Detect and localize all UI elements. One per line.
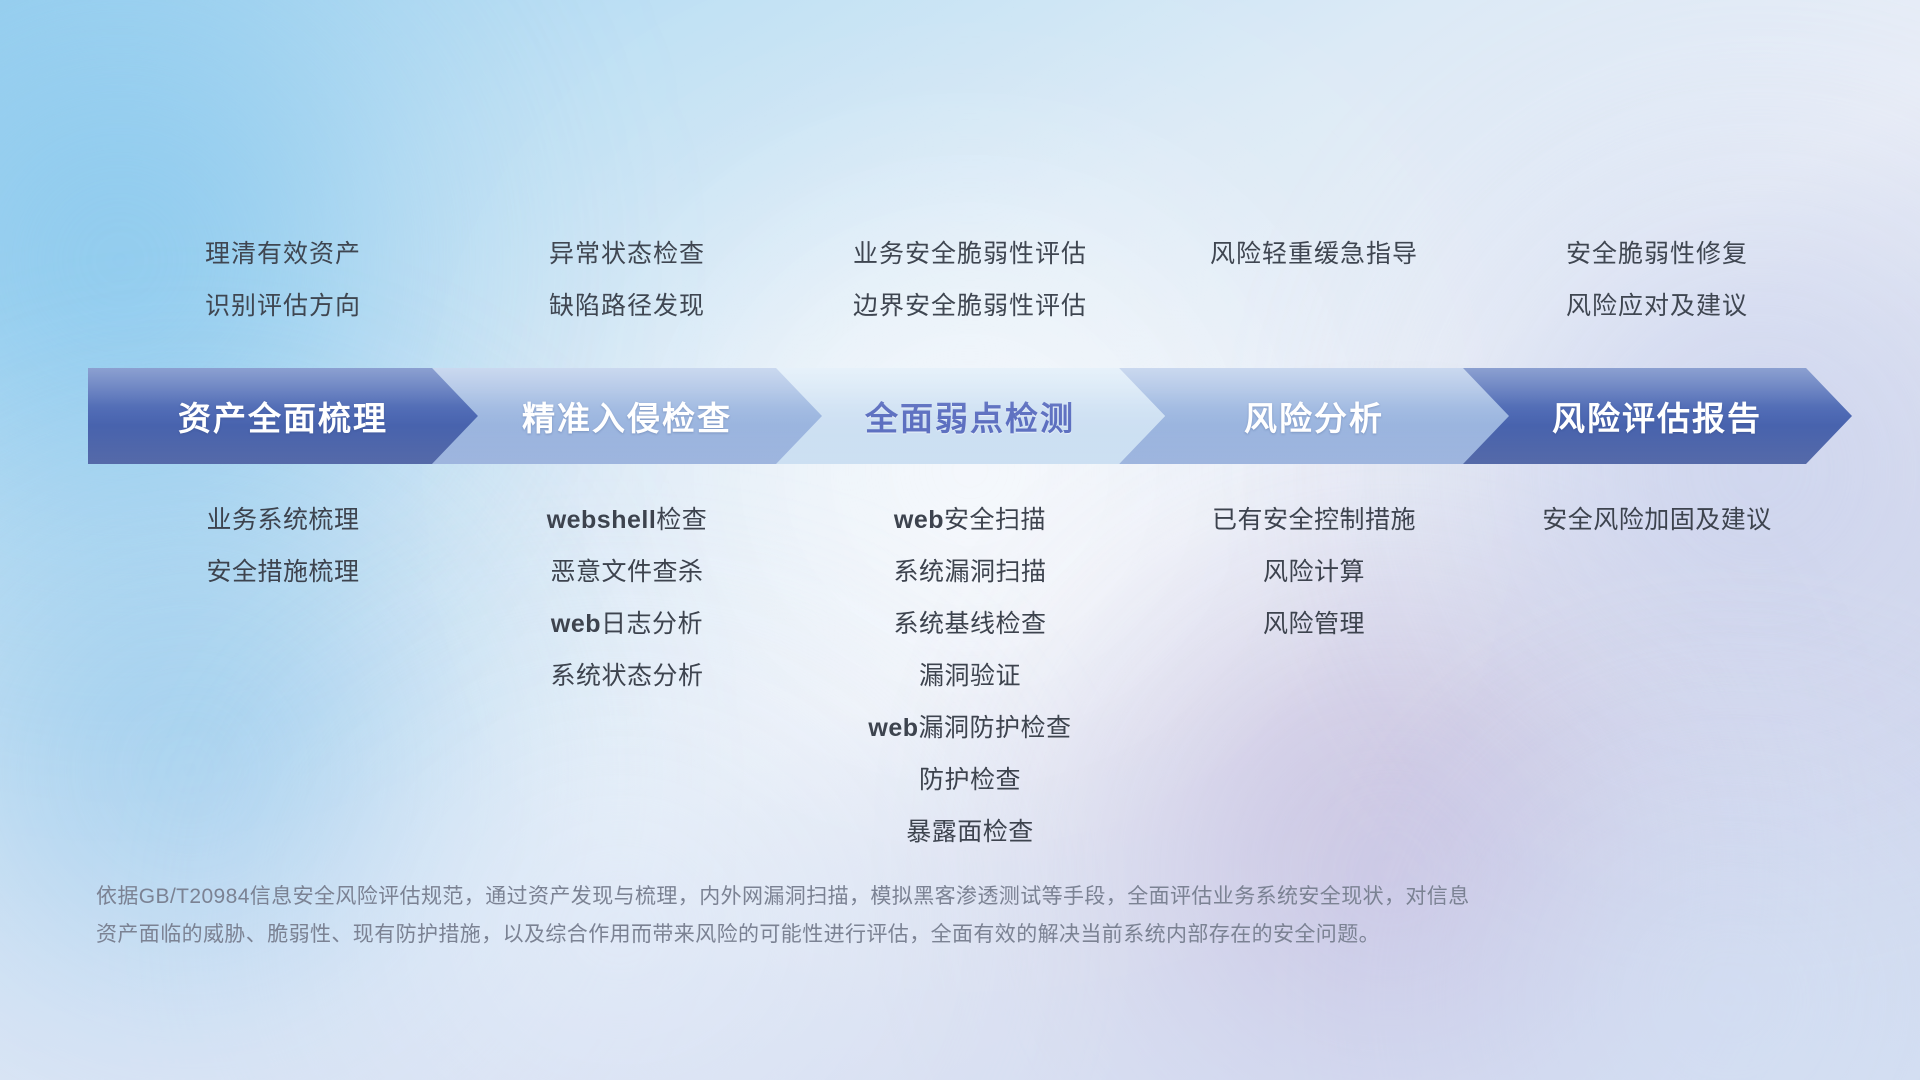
stage-items-intrusion-check: webshell检查恶意文件查杀web日志分析系统状态分析: [432, 494, 822, 702]
stage-item: webshell检查: [432, 494, 822, 546]
stage-item: 风险管理: [1119, 598, 1509, 650]
stage-item-keyword: webshell: [547, 506, 657, 534]
stage-item: 已有安全控制措施: [1119, 494, 1509, 546]
stage-item: 风险计算: [1119, 546, 1509, 598]
top-notes-risk-analysis: 风险轻重缓急指导: [1119, 228, 1509, 280]
top-notes-asset-inventory: 理清有效资产 识别评估方向: [88, 228, 478, 332]
top-note: 风险应对及建议: [1462, 280, 1852, 332]
stage-item: 系统基线检查: [775, 598, 1165, 650]
top-note: 理清有效资产: [88, 228, 478, 280]
stage-item: 暴露面检查: [775, 806, 1165, 858]
stage-arrow-intrusion-check[interactable]: 精准入侵检查: [432, 368, 822, 464]
stage-arrow-label: 精准入侵检查: [522, 392, 732, 440]
top-note: 缺陷路径发现: [432, 280, 822, 332]
top-notes-row: 理清有效资产 识别评估方向 异常状态检查 缺陷路径发现 业务安全脆弱性评估 边界…: [88, 228, 1860, 338]
stage-arrow-weakness-detection[interactable]: 全面弱点检测: [775, 368, 1165, 464]
stage-items-asset-inventory: 业务系统梳理安全措施梳理: [88, 494, 478, 598]
stage-item: 系统漏洞扫描: [775, 546, 1165, 598]
stage-item: 恶意文件查杀: [432, 546, 822, 598]
stage-item-keyword: web: [551, 610, 601, 638]
top-note: 识别评估方向: [88, 280, 478, 332]
stage-item-keyword: web: [894, 506, 944, 534]
stage-item: 安全风险加固及建议: [1462, 494, 1852, 546]
top-note: 风险轻重缓急指导: [1119, 228, 1509, 280]
stage-item: 业务系统梳理: [88, 494, 478, 546]
stage-items-weakness-detection: web安全扫描系统漏洞扫描系统基线检查漏洞验证web漏洞防护检查防护检查暴露面检…: [775, 494, 1165, 858]
stage-arrow-label: 全面弱点检测: [865, 392, 1075, 440]
top-notes-weakness-detection: 业务安全脆弱性评估 边界安全脆弱性评估: [775, 228, 1165, 332]
top-notes-risk-report: 安全脆弱性修复 风险应对及建议: [1462, 228, 1852, 332]
slide-stage: 理清有效资产 识别评估方向 异常状态检查 缺陷路径发现 业务安全脆弱性评估 边界…: [0, 0, 1920, 1080]
top-notes-intrusion-check: 异常状态检查 缺陷路径发现: [432, 228, 822, 332]
stage-arrow-risk-report[interactable]: 风险评估报告: [1462, 368, 1852, 464]
stage-item: 漏洞验证: [775, 650, 1165, 702]
footer-line-1: 依据GB/T20984信息安全风险评估规范，通过资产发现与梳理，内外网漏洞扫描，…: [96, 878, 1636, 916]
stage-item: 安全措施梳理: [88, 546, 478, 598]
process-arrow-band: 资产全面梳理 精准入侵检查 全面弱点检测 风险分析 风险评估报告: [88, 368, 1852, 464]
top-note: 安全脆弱性修复: [1462, 228, 1852, 280]
stage-item: web漏洞防护检查: [775, 702, 1165, 754]
stage-items-risk-analysis: 已有安全控制措施风险计算风险管理: [1119, 494, 1509, 650]
footer-description: 依据GB/T20984信息安全风险评估规范，通过资产发现与梳理，内外网漏洞扫描，…: [96, 878, 1636, 954]
stage-item-keyword: web: [868, 714, 918, 742]
stage-item: web安全扫描: [775, 494, 1165, 546]
stage-arrow-label: 风险评估报告: [1552, 392, 1762, 440]
stage-item: 系统状态分析: [432, 650, 822, 702]
stage-items-risk-report: 安全风险加固及建议: [1462, 494, 1852, 546]
top-note: 业务安全脆弱性评估: [775, 228, 1165, 280]
stage-item: web日志分析: [432, 598, 822, 650]
stage-arrow-label: 风险分析: [1244, 392, 1384, 440]
top-note: 异常状态检查: [432, 228, 822, 280]
top-note: 边界安全脆弱性评估: [775, 280, 1165, 332]
stage-arrow-risk-analysis[interactable]: 风险分析: [1119, 368, 1509, 464]
footer-line-2: 资产面临的威胁、脆弱性、现有防护措施，以及综合作用而带来风险的可能性进行评估，全…: [96, 916, 1636, 954]
stage-arrow-label: 资产全面梳理: [178, 392, 388, 440]
stage-arrow-asset-inventory[interactable]: 资产全面梳理: [88, 368, 478, 464]
stage-item: 防护检查: [775, 754, 1165, 806]
